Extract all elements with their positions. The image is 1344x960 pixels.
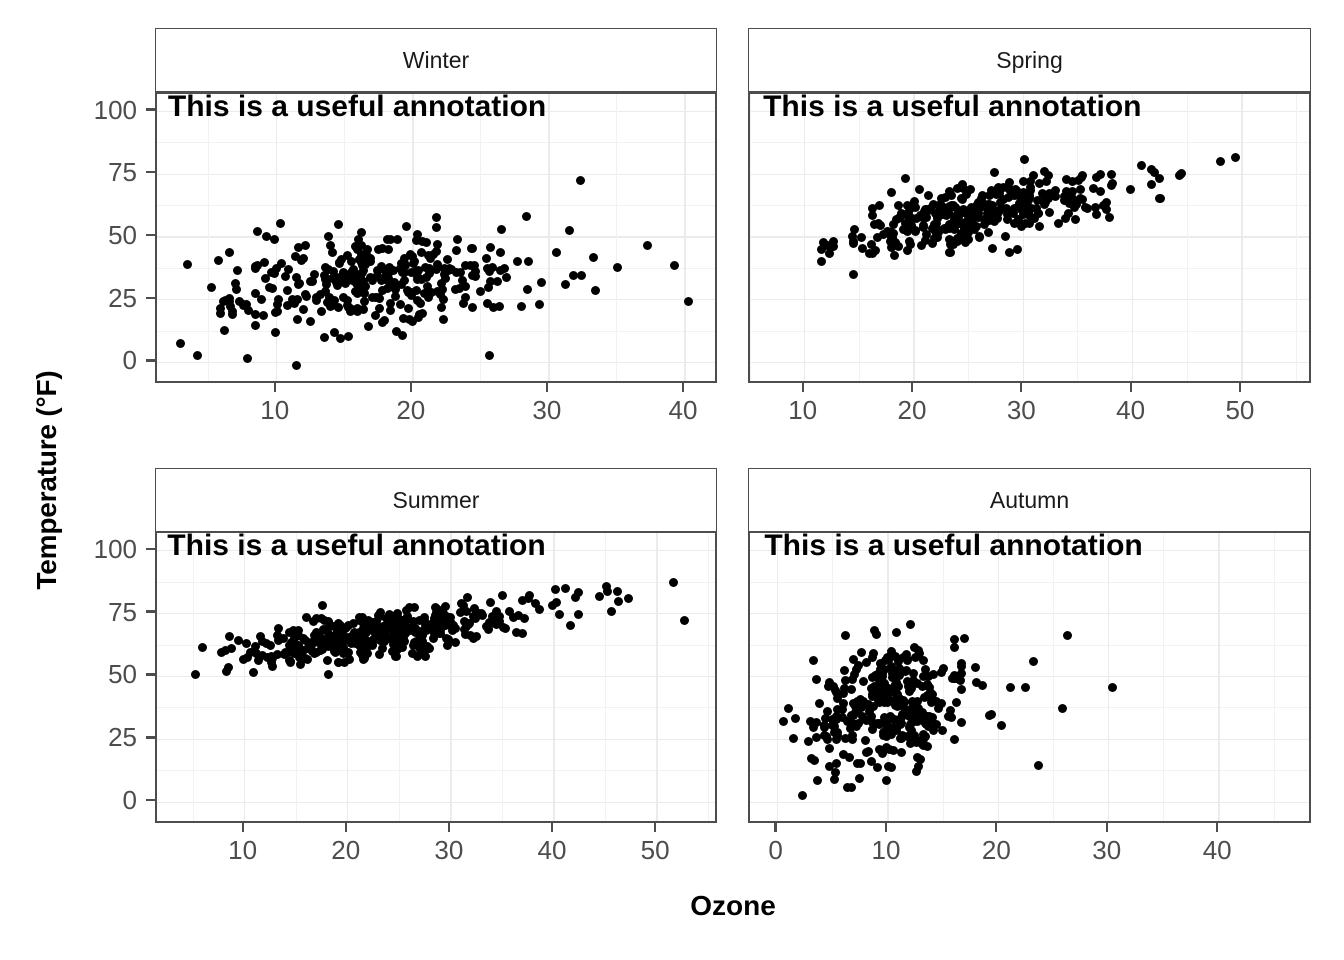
scatter-point (309, 617, 318, 626)
scatter-point (1155, 194, 1164, 203)
scatter-point (271, 308, 280, 317)
x-axis-tick (1130, 383, 1132, 392)
panel-annotation: This is a useful annotation (764, 531, 1142, 561)
scatter-point (595, 592, 604, 601)
scatter-point (825, 744, 834, 753)
scatter-point (670, 261, 679, 270)
scatter-point (292, 361, 301, 370)
y-axis-tick (146, 234, 155, 236)
scatter-point (461, 293, 470, 302)
gridline-vertical-minor (943, 533, 944, 821)
scatter-point (249, 668, 258, 677)
scatter-point (1019, 188, 1028, 197)
gridline-horizontal (750, 362, 1309, 363)
gridline-vertical-minor (750, 94, 751, 381)
scatter-point (418, 309, 427, 318)
scatter-point (680, 616, 689, 625)
scatter-point (293, 315, 302, 324)
gridline-horizontal-minor (750, 268, 1309, 269)
scatter-point (484, 622, 493, 631)
x-axis-tick (1020, 383, 1022, 392)
scatter-point (892, 628, 901, 637)
gridline-vertical (998, 533, 999, 821)
y-axis-tick (146, 736, 155, 738)
gridline-vertical (450, 533, 451, 821)
scatter-point (523, 285, 532, 294)
scatter-point (317, 307, 326, 316)
scatter-point (669, 578, 678, 587)
scatter-point (850, 670, 859, 679)
gridline-vertical (684, 94, 685, 381)
scatter-point (444, 265, 453, 274)
scatter-point (393, 235, 402, 244)
scatter-point (813, 776, 822, 785)
scatter-point (1011, 185, 1020, 194)
gridline-horizontal-minor (750, 331, 1309, 332)
scatter-point (495, 302, 504, 311)
x-axis-tick (448, 823, 450, 832)
scatter-point (414, 266, 423, 275)
scatter-point (535, 300, 544, 309)
scatter-point (1018, 199, 1027, 208)
gridline-horizontal-minor (750, 582, 1309, 583)
scatter-point (1076, 185, 1085, 194)
plot-area-spring: This is a useful annotation (748, 92, 1311, 383)
facet-panel-spring: SpringThis is a useful annotation (748, 28, 1311, 383)
x-axis-tick-label: 30 (1007, 397, 1036, 423)
scatter-point (823, 241, 832, 250)
scatter-point (996, 198, 1005, 207)
y-axis-tick-label: 0 (35, 347, 137, 373)
scatter-point (882, 776, 891, 785)
scatter-point (437, 303, 446, 312)
scatter-point (830, 722, 839, 731)
gridline-horizontal-minor (157, 582, 715, 583)
scatter-point (425, 269, 434, 278)
scatter-point (500, 264, 509, 273)
plot-area-summer: This is a useful annotation (155, 531, 717, 823)
scatter-point (903, 226, 912, 235)
x-axis-tick-label: 50 (1225, 397, 1254, 423)
scatter-point (791, 714, 800, 723)
scatter-point (914, 762, 923, 771)
scatter-point (890, 251, 899, 260)
scatter-point (1034, 209, 1043, 218)
scatter-point (911, 653, 920, 662)
scatter-point (334, 220, 343, 229)
scatter-point (971, 663, 980, 672)
scatter-point (883, 698, 892, 707)
y-axis-tick (146, 799, 155, 801)
scatter-point (469, 634, 478, 643)
scatter-point (362, 254, 371, 263)
scatter-point (856, 759, 865, 768)
scatter-point (299, 254, 308, 263)
y-axis-tick-label: 75 (35, 159, 137, 185)
scatter-point (921, 236, 930, 245)
gridline-vertical-minor (605, 533, 606, 821)
scatter-point (393, 645, 402, 654)
scatter-point (276, 219, 285, 228)
scatter-point (325, 293, 334, 302)
gridline-horizontal (157, 174, 715, 175)
scatter-point (894, 682, 903, 691)
y-axis-tick (146, 297, 155, 299)
x-axis-tick-label: 30 (1092, 837, 1121, 863)
scatter-point (915, 185, 924, 194)
scatter-point (789, 734, 798, 743)
scatter-point (253, 227, 262, 236)
y-axis-tick-label: 100 (35, 536, 137, 562)
scatter-point (926, 688, 935, 697)
scatter-point (885, 745, 894, 754)
scatter-point (214, 256, 223, 265)
gridline-vertical (1108, 533, 1109, 821)
scatter-point (555, 610, 564, 619)
gridline-vertical (913, 94, 914, 381)
scatter-point (566, 621, 575, 630)
scatter-point (384, 245, 393, 254)
scatter-point (463, 593, 472, 602)
scatter-point (1045, 208, 1054, 217)
scatter-point (330, 328, 339, 337)
scatter-point (225, 297, 234, 306)
scatter-point (950, 671, 959, 680)
scatter-point (946, 706, 955, 715)
scatter-point (497, 225, 506, 234)
scatter-point (452, 246, 461, 255)
x-axis-tick-label: 10 (260, 397, 289, 423)
scatter-point (524, 257, 533, 266)
x-axis-tick-label: 40 (1203, 837, 1232, 863)
scatter-point (436, 617, 445, 626)
x-axis-tick (802, 383, 804, 392)
y-axis-tick-label: 75 (35, 599, 137, 625)
gridline-vertical-minor (399, 533, 400, 821)
scatter-point (321, 263, 330, 272)
gridline-vertical-minor (480, 94, 481, 381)
facet-strip-autumn: Autumn (748, 468, 1311, 532)
gridline-vertical-minor (1077, 94, 1078, 381)
scatter-point (957, 685, 966, 694)
scatter-point (950, 735, 959, 744)
gridline-vertical-minor (708, 533, 709, 821)
y-axis-tick (146, 359, 155, 361)
scatter-point (901, 174, 910, 183)
y-axis-tick-label: 50 (35, 661, 137, 687)
scatter-point (225, 248, 234, 257)
scatter-point (643, 241, 652, 250)
x-axis-tick (774, 823, 776, 832)
scatter-point (603, 587, 612, 596)
facet-strip-label: Summer (393, 489, 480, 512)
scatter-point (1092, 173, 1101, 182)
scatter-point (1231, 153, 1240, 162)
scatter-point (832, 759, 841, 768)
x-axis-tick (995, 823, 997, 832)
scatter-point (415, 616, 424, 625)
scatter-point (356, 648, 365, 657)
y-axis-tick-label: 0 (35, 787, 137, 813)
scatter-point (483, 299, 492, 308)
scatter-point (779, 717, 788, 726)
scatter-point (854, 719, 863, 728)
scatter-point (857, 233, 866, 242)
scatter-point (345, 633, 354, 642)
scatter-point (894, 242, 903, 251)
gridline-vertical (1023, 94, 1024, 381)
scatter-point (320, 333, 329, 342)
gridline-vertical-minor (1053, 533, 1054, 821)
scatter-point (1175, 171, 1184, 180)
scatter-point (1108, 683, 1117, 692)
scatter-point (908, 697, 917, 706)
scatter-point (443, 255, 452, 264)
scatter-point (887, 730, 896, 739)
scatter-point (193, 351, 202, 360)
scatter-point (231, 279, 240, 288)
scatter-point (339, 268, 348, 277)
x-axis-tick-label: 10 (228, 837, 257, 863)
scatter-point (1083, 204, 1092, 213)
scatter-point (259, 311, 268, 320)
scatter-point (344, 332, 353, 341)
scatter-point (433, 240, 442, 249)
scatter-point (990, 168, 999, 177)
scatter-point (343, 301, 352, 310)
scatter-point (591, 286, 600, 295)
x-axis-tick-label: 20 (898, 397, 927, 423)
x-axis-tick-label: 20 (982, 837, 1011, 863)
gridline-vertical (656, 533, 657, 821)
x-axis-tick (1106, 823, 1108, 832)
scatter-point (817, 257, 826, 266)
x-axis-tick (242, 823, 244, 832)
x-axis-tick (274, 383, 276, 392)
scatter-point (323, 656, 332, 665)
scatter-point (894, 657, 903, 666)
scatter-point (1054, 219, 1063, 228)
y-axis-tick (146, 673, 155, 675)
scatter-point (875, 201, 884, 210)
scatter-point (274, 624, 283, 633)
scatter-point (849, 239, 858, 248)
scatter-point (335, 259, 344, 268)
x-axis-tick-label: 40 (669, 397, 698, 423)
scatter-point (396, 300, 405, 309)
scatter-point (551, 585, 560, 594)
scatter-point (576, 176, 585, 185)
scatter-point (493, 277, 502, 286)
scatter-point (906, 620, 915, 629)
scatter-point (432, 223, 441, 232)
x-axis-tick-label: 20 (396, 397, 425, 423)
scatter-point (392, 327, 401, 336)
gridline-horizontal-minor (157, 707, 715, 708)
scatter-point (924, 191, 933, 200)
scatter-point (613, 587, 622, 596)
scatter-point (486, 243, 495, 252)
scatter-point (1019, 177, 1028, 186)
scatter-point (867, 240, 876, 249)
scatter-point (332, 278, 341, 287)
facet-panel-summer: SummerThis is a useful annotation (155, 468, 717, 823)
scatter-point (326, 241, 335, 250)
scatter-point (975, 233, 984, 242)
scatter-point (402, 222, 411, 231)
scatter-point (495, 612, 504, 621)
x-axis-tick-label: 50 (641, 837, 670, 863)
scatter-point (896, 719, 905, 728)
scatter-point (501, 624, 510, 633)
scatter-point (840, 666, 849, 675)
gridline-vertical (553, 533, 554, 821)
x-axis-tick (546, 383, 548, 392)
gridline-vertical (1132, 94, 1133, 381)
scatter-point (1044, 171, 1053, 180)
scatter-point (985, 711, 994, 720)
scatter-point (1071, 215, 1080, 224)
scatter-point (1001, 232, 1010, 241)
gridline-horizontal (157, 739, 715, 740)
y-axis-tick-label: 100 (35, 97, 137, 123)
scatter-point (222, 667, 231, 676)
panel-annotation: This is a useful annotation (167, 531, 545, 561)
scatter-point (260, 258, 269, 267)
facet-strip-label: Spring (996, 49, 1062, 72)
gridline-horizontal-minor (157, 205, 715, 206)
scatter-point (1147, 180, 1156, 189)
scatter-point (468, 303, 477, 312)
scatter-point (227, 644, 236, 653)
gridline-horizontal-minor (157, 331, 715, 332)
scatter-point (839, 699, 848, 708)
scatter-point (359, 284, 368, 293)
gridline-vertical (804, 94, 805, 381)
scatter-point (810, 756, 819, 765)
plot-area-autumn: This is a useful annotation (748, 531, 1311, 823)
y-axis-tick-label: 25 (35, 285, 137, 311)
scatter-point (561, 280, 570, 289)
facet-panel-autumn: AutumnThis is a useful annotation (748, 468, 1311, 823)
scatter-point (820, 721, 829, 730)
x-axis-tick (911, 383, 913, 392)
scatter-point (809, 656, 818, 665)
x-axis-tick (682, 383, 684, 392)
x-axis-tick-label: 10 (872, 837, 901, 863)
scatter-point (486, 598, 495, 607)
scatter-point (624, 594, 633, 603)
scatter-point (970, 225, 979, 234)
scatter-point (932, 224, 941, 233)
scatter-point (324, 670, 333, 679)
x-axis-title: Ozone (155, 886, 1311, 926)
scatter-point (964, 235, 973, 244)
scatter-point (1107, 170, 1116, 179)
gridline-vertical-minor (208, 94, 209, 381)
scatter-point (324, 232, 333, 241)
scatter-point (257, 295, 266, 304)
scatter-point (1029, 657, 1038, 666)
scatter-point (242, 639, 251, 648)
scatter-point (913, 679, 922, 688)
y-axis-title: Temperature (°F) (27, 0, 67, 960)
scatter-point (310, 649, 319, 658)
gridline-horizontal (750, 299, 1309, 300)
facet-strip-label: Winter (403, 49, 469, 72)
scatter-point (422, 238, 431, 247)
scatter-point (484, 283, 493, 292)
scatter-point (848, 232, 857, 241)
scatter-point (574, 610, 583, 619)
scatter-point (838, 713, 847, 722)
x-axis-tick-label: 0 (768, 837, 782, 863)
scatter-point (881, 656, 890, 665)
scatter-point (310, 270, 319, 279)
scatter-point (1150, 168, 1159, 177)
x-axis-tick-label: 30 (532, 397, 561, 423)
x-axis-tick (551, 823, 553, 832)
scatter-point (1126, 185, 1135, 194)
scatter-point (373, 266, 382, 275)
gridline-horizontal (750, 613, 1309, 614)
scatter-point (806, 717, 815, 726)
scatter-point (929, 670, 938, 679)
scatter-point (552, 248, 561, 257)
scatter-point (220, 326, 229, 335)
x-axis-tick (1216, 823, 1218, 832)
x-axis-tick (410, 383, 412, 392)
scatter-point (919, 656, 928, 665)
scatter-point (684, 297, 693, 306)
scatter-point (326, 631, 335, 640)
scatter-point (1034, 761, 1043, 770)
scatter-point (561, 584, 570, 593)
scatter-point (322, 280, 331, 289)
scatter-point (950, 643, 959, 652)
gridline-horizontal-minor (157, 142, 715, 143)
x-axis-tick (885, 823, 887, 832)
y-axis-tick (146, 171, 155, 173)
scatter-point (1058, 704, 1067, 713)
scatter-point (952, 698, 961, 707)
gridline-vertical (244, 533, 245, 821)
scatter-point (589, 253, 598, 262)
x-axis-tick-label: 30 (434, 837, 463, 863)
scatter-point (228, 310, 237, 319)
scatter-point (930, 234, 939, 243)
scatter-point (973, 200, 982, 209)
scatter-point (389, 617, 398, 626)
scatter-point (517, 302, 526, 311)
scatter-point (425, 644, 434, 653)
y-axis-tick (146, 108, 155, 110)
facet-strip-spring: Spring (748, 28, 1311, 92)
gridline-horizontal (157, 802, 715, 803)
scatter-point (432, 213, 441, 222)
scatter-point (966, 185, 975, 194)
scatter-point (453, 235, 462, 244)
scatter-point (985, 216, 994, 225)
scatter-point (1089, 184, 1098, 193)
scatter-point (1035, 222, 1044, 231)
scatter-point (552, 598, 561, 607)
scatter-point (518, 629, 527, 638)
scatter-point (176, 339, 185, 348)
scatter-point (251, 264, 260, 273)
scatter-point (1108, 179, 1117, 188)
scatter-point (871, 671, 880, 680)
